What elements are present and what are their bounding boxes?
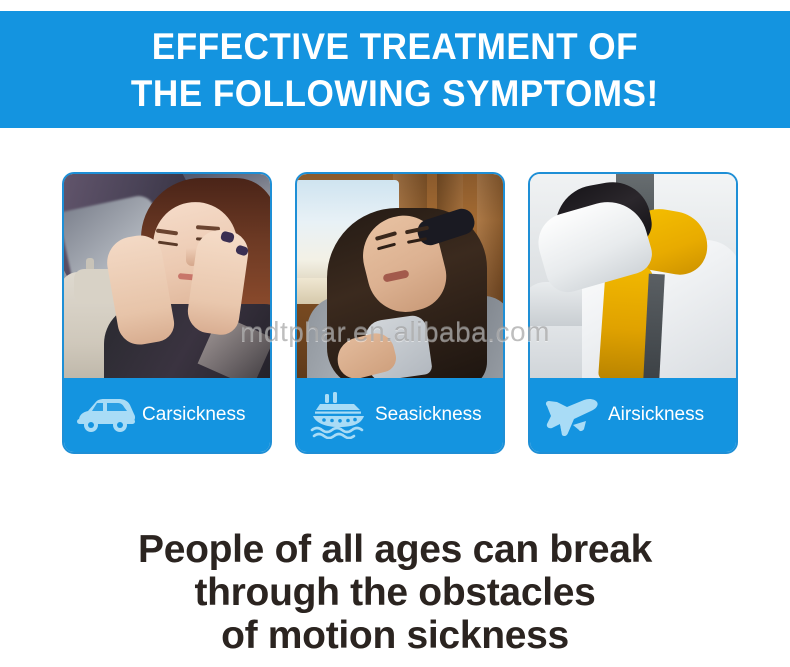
bottom-tagline: People of all ages can break through the… — [0, 528, 790, 657]
cruise-ship-icon — [307, 391, 371, 439]
banner-headline-line1: EFFECTIVE TREATMENT OF — [152, 23, 638, 70]
symptom-card-carsickness[interactable]: Carsickness — [62, 172, 272, 454]
airsickness-label: Airsickness — [608, 404, 704, 426]
header-banner: EFFECTIVE TREATMENT OF THE FOLLOWING SYM… — [0, 11, 790, 128]
tagline-line2: through the obstacles — [0, 571, 790, 614]
carsickness-label: Carsickness — [142, 404, 245, 426]
car-icon — [74, 391, 138, 439]
seasickness-label-strip: Seasickness — [297, 378, 503, 452]
symptom-card-seasickness[interactable]: Seasickness — [295, 172, 505, 454]
carsickness-label-strip: Carsickness — [64, 378, 270, 452]
banner-headline-line2: THE FOLLOWING SYMPTOMS! — [131, 70, 659, 117]
airplane-icon — [540, 391, 604, 439]
seasickness-photo — [297, 174, 503, 382]
airsickness-label-strip: Airsickness — [530, 378, 736, 452]
symptom-card-airsickness[interactable]: Airsickness — [528, 172, 738, 454]
carsickness-photo — [64, 174, 270, 382]
seasickness-label: Seasickness — [375, 404, 482, 426]
tagline-line1: People of all ages can break — [0, 528, 790, 571]
symptom-cards-row: Carsickness — [62, 172, 738, 454]
airsickness-photo — [530, 174, 736, 382]
tagline-line3: of motion sickness — [0, 614, 790, 657]
